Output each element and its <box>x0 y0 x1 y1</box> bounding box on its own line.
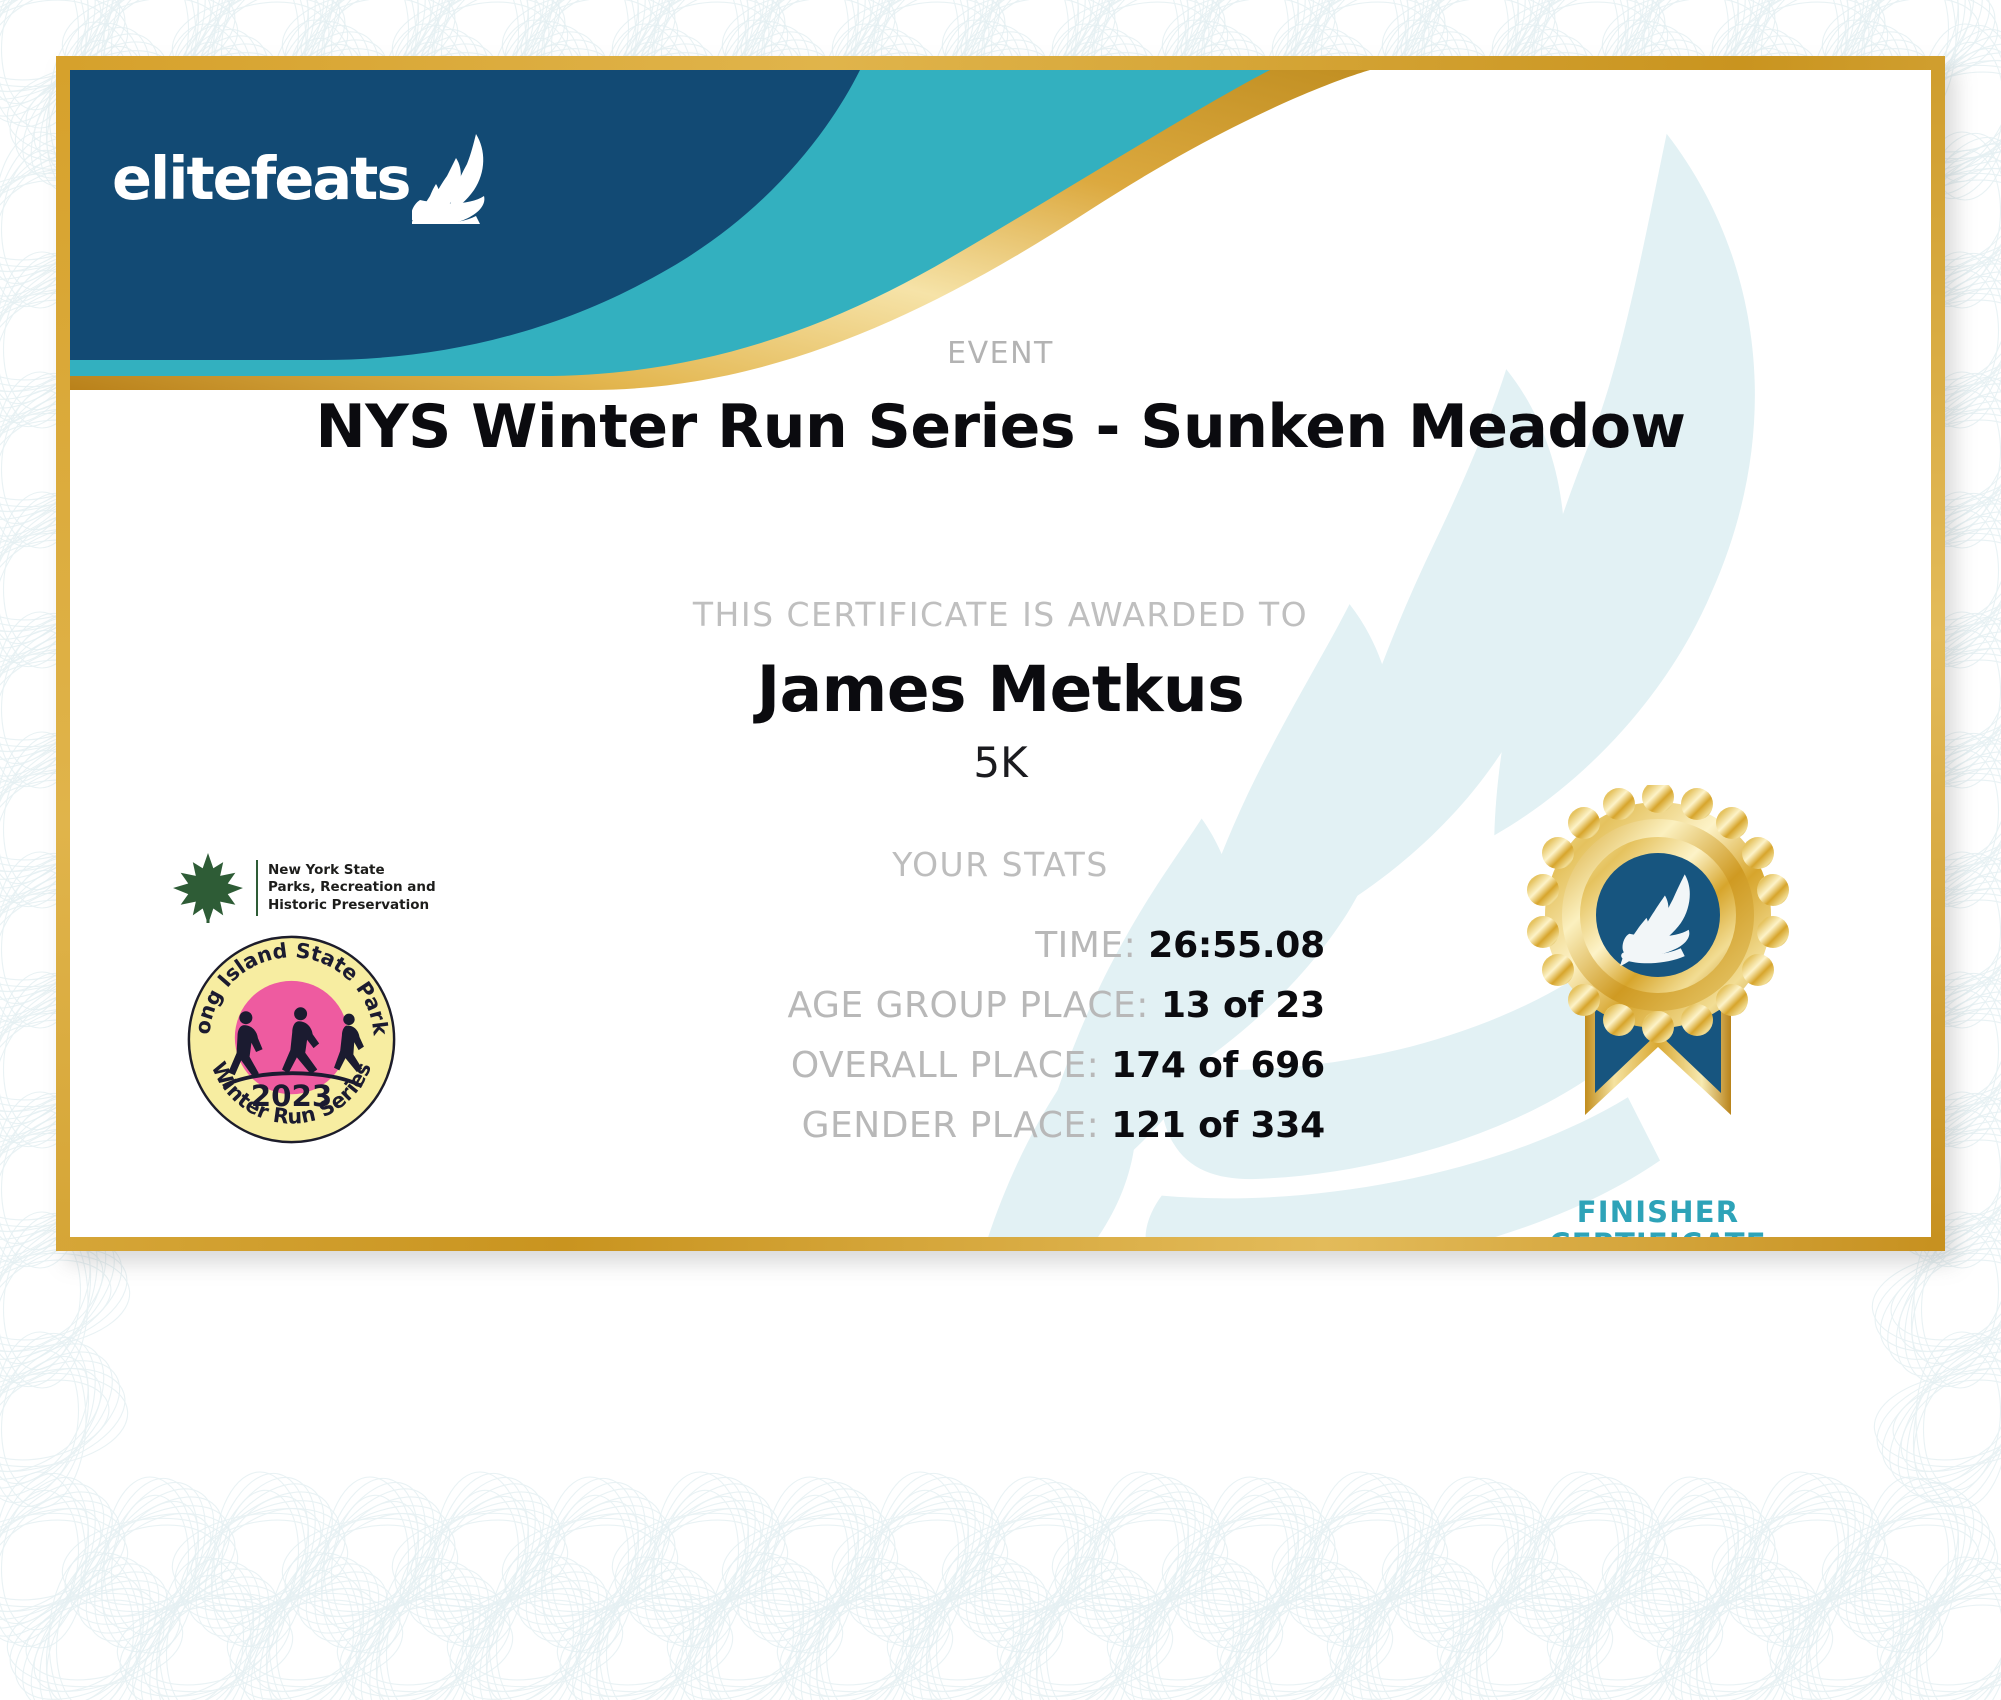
logo-divider <box>256 860 258 916</box>
winged-foot-medal-icon: 2023 <box>1513 785 1803 1185</box>
stat-label: AGE GROUP PLACE: <box>788 985 1149 1026</box>
nys-line-3: Historic Preservation <box>268 897 436 914</box>
stat-value: 174 of 696 <box>1111 1045 1325 1086</box>
stat-label: TIME: <box>1035 925 1136 966</box>
nys-parks-block: New York State Parks, Recreation and His… <box>170 850 490 1152</box>
event-title: NYS Winter Run Series - Sunken Meadow <box>70 392 1931 462</box>
finisher-medal-block: 2023 <box>1493 785 1823 1237</box>
nys-line-1: New York State <box>268 862 436 879</box>
stat-value: 26:55.08 <box>1148 925 1325 966</box>
winged-foot-icon <box>412 132 496 224</box>
stat-label: OVERALL PLACE: <box>791 1045 1099 1086</box>
finisher-caption: FINISHER CERTIFICATE <box>1493 1196 1823 1237</box>
event-label: EVENT <box>70 336 1931 371</box>
maple-leaf-icon <box>170 850 246 926</box>
nys-line-2: Parks, Recreation and <box>268 879 436 896</box>
stat-value: 121 of 334 <box>1111 1105 1325 1146</box>
elitefeats-logo: elitefeats <box>112 132 496 224</box>
brand-name: elitefeats <box>112 144 410 213</box>
race-distance: 5K <box>70 738 1931 787</box>
certificate-body: elitefeats EVENT NYS Winter Run Series -… <box>70 70 1931 1237</box>
stat-value: 13 of 23 <box>1161 985 1325 1026</box>
nys-parks-logo: New York State Parks, Recreation and His… <box>170 850 490 926</box>
winter-run-series-badge: 2023 Long Island State Parks Winter Run … <box>184 932 399 1147</box>
awarded-to-label: THIS CERTIFICATE IS AWARDED TO <box>70 595 1931 634</box>
finisher-caption-line2: CERTIFICATE <box>1493 1228 1823 1237</box>
recipient-name: James Metkus <box>70 653 1931 726</box>
medal-scallop <box>1527 785 1789 1043</box>
finisher-caption-line1: FINISHER <box>1493 1196 1823 1228</box>
certificate-page: elitefeats EVENT NYS Winter Run Series -… <box>0 0 2001 1700</box>
stat-label: GENDER PLACE: <box>802 1105 1100 1146</box>
nys-parks-wordmark: New York State Parks, Recreation and His… <box>268 862 436 914</box>
